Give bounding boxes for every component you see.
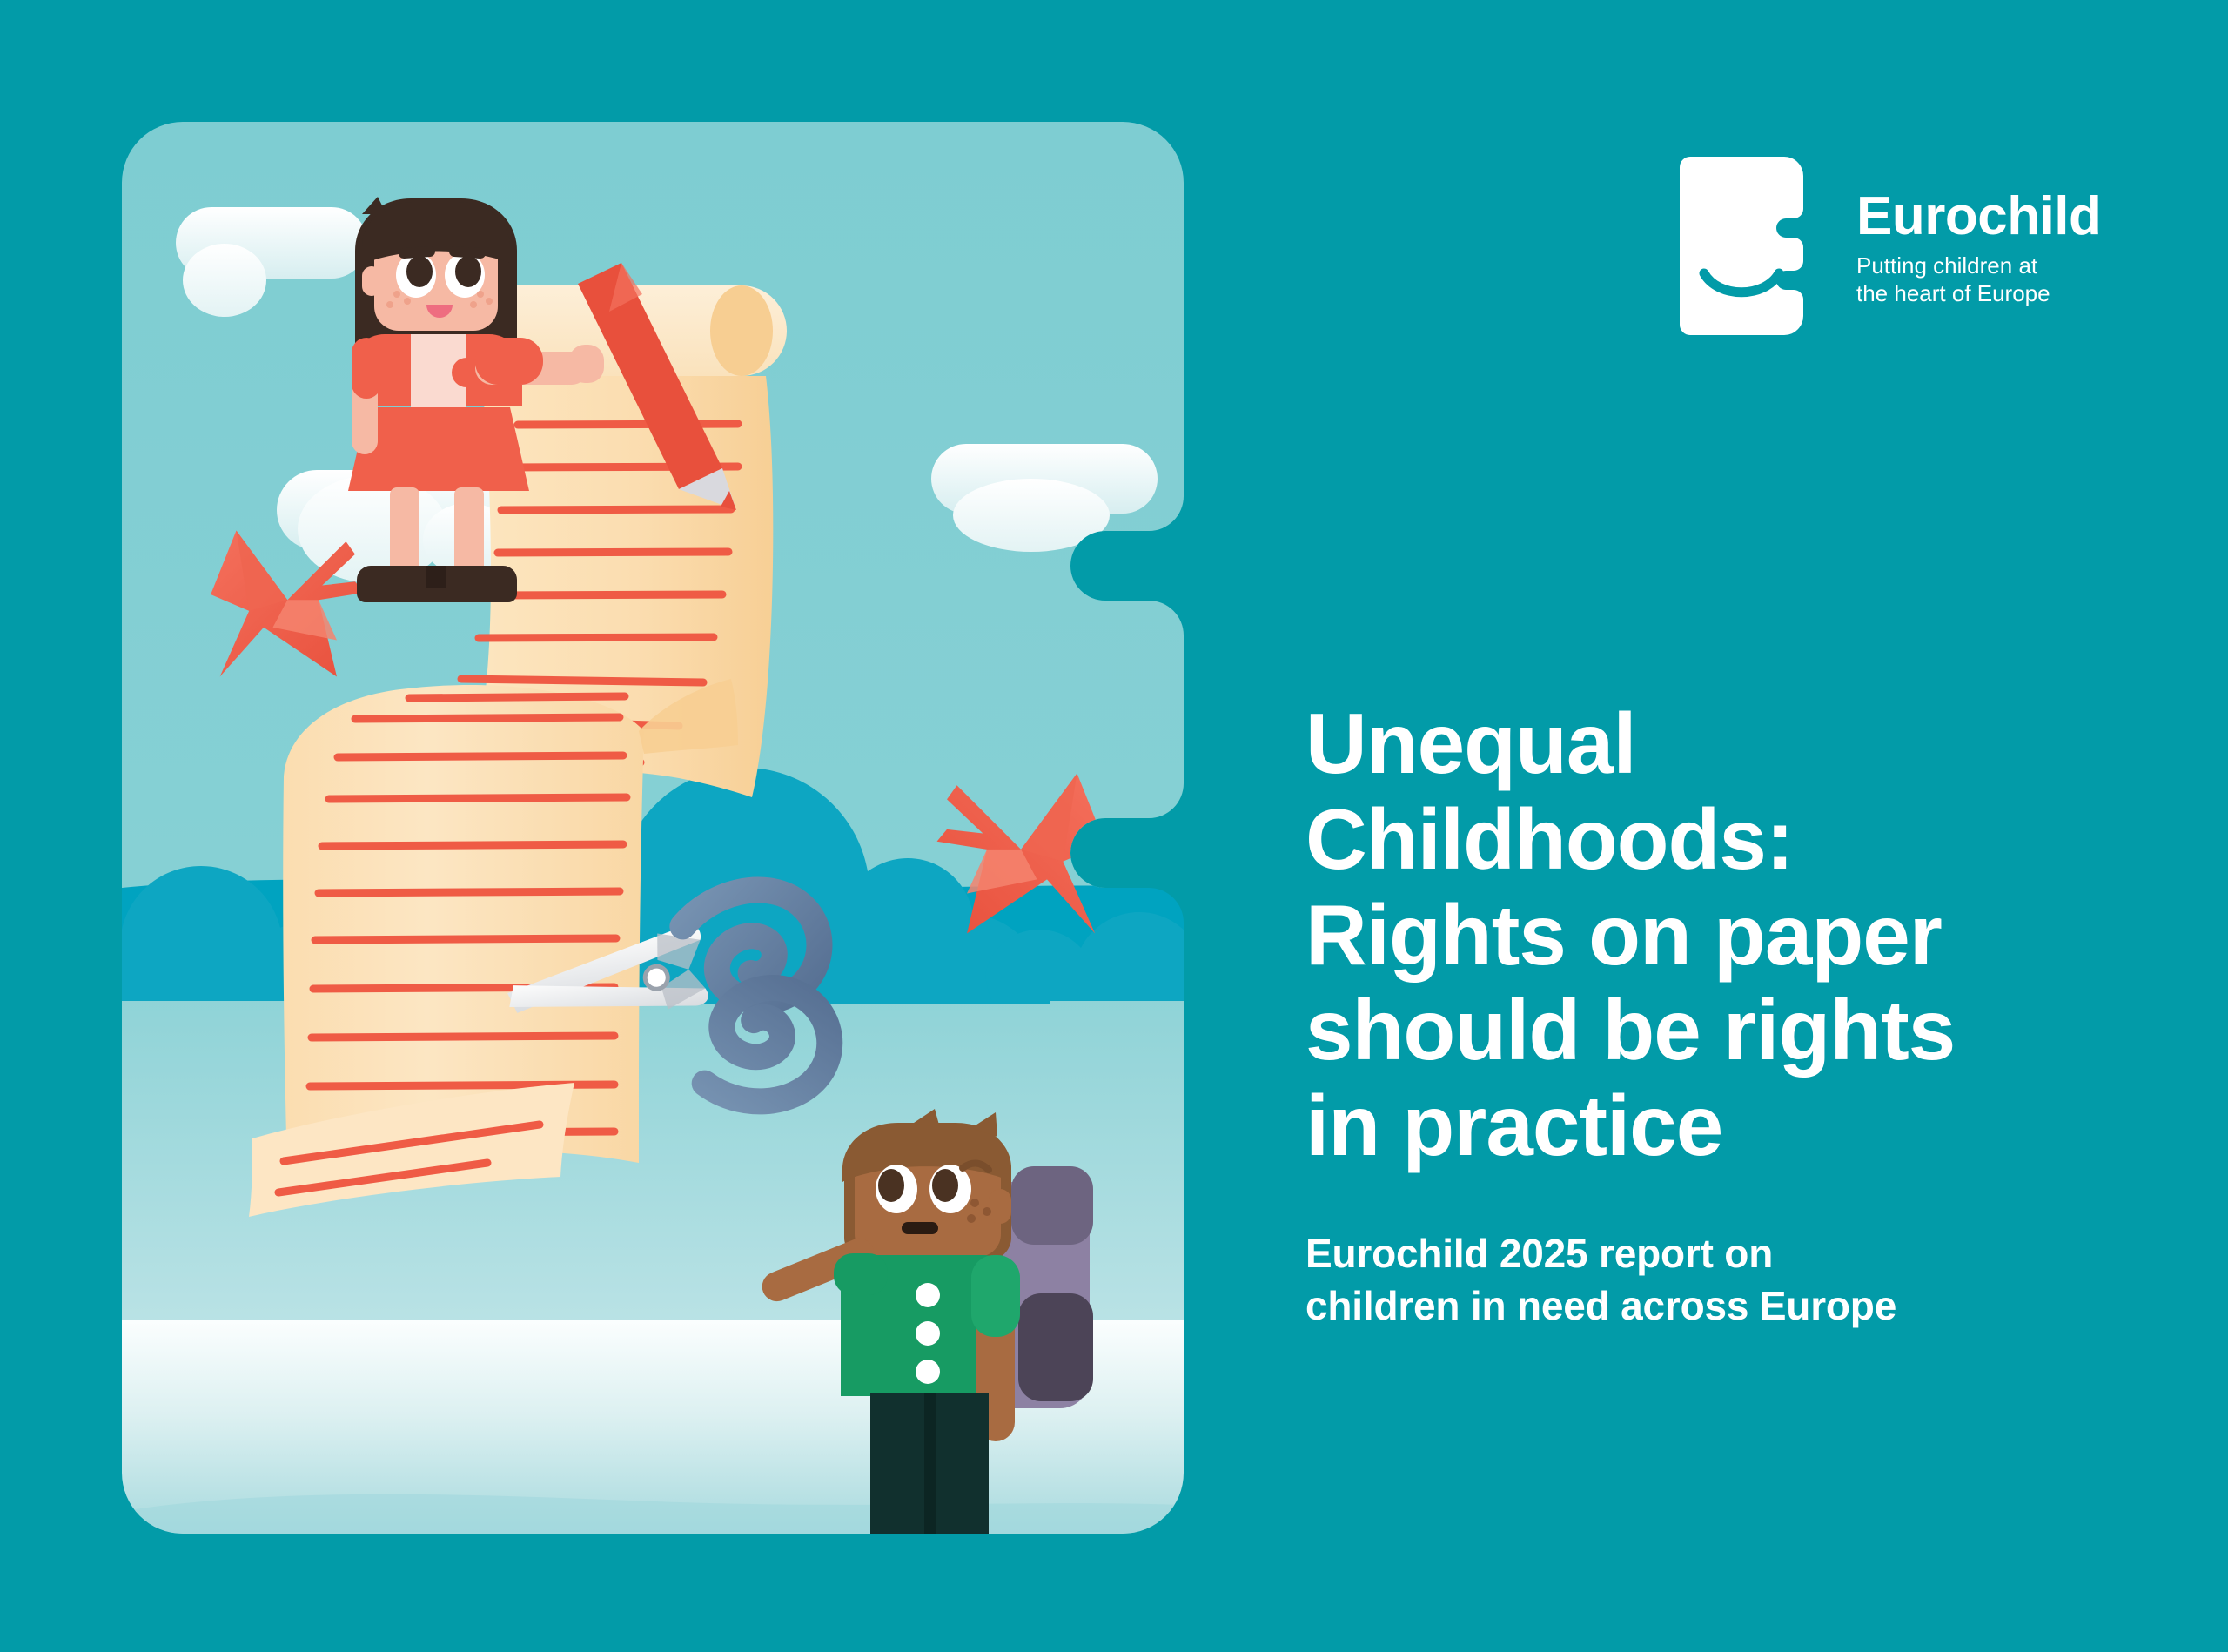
title-block: Unequal Childhoods: Rights on paper shou…	[1305, 696, 2228, 1332]
report-cover: Eurochild Putting children at the heart …	[0, 0, 2228, 1652]
page-title: Unequal Childhoods: Rights on paper shou…	[1305, 696, 2228, 1174]
eurochild-logo: Eurochild Putting children at the heart …	[1680, 157, 2101, 335]
eurochild-logo-mark	[1680, 157, 1815, 335]
eurochild-logo-text: Eurochild Putting children at the heart …	[1856, 185, 2101, 307]
logo-name: Eurochild	[1856, 190, 2101, 244]
page-subtitle: Eurochild 2025 report on children in nee…	[1305, 1228, 2228, 1333]
cover-illustration	[122, 122, 1201, 1534]
cover-content: Eurochild Putting children at the heart …	[1305, 0, 2228, 1652]
logo-tagline: Putting children at the heart of Europe	[1856, 252, 2101, 307]
paper-scroll-left	[283, 685, 644, 1168]
